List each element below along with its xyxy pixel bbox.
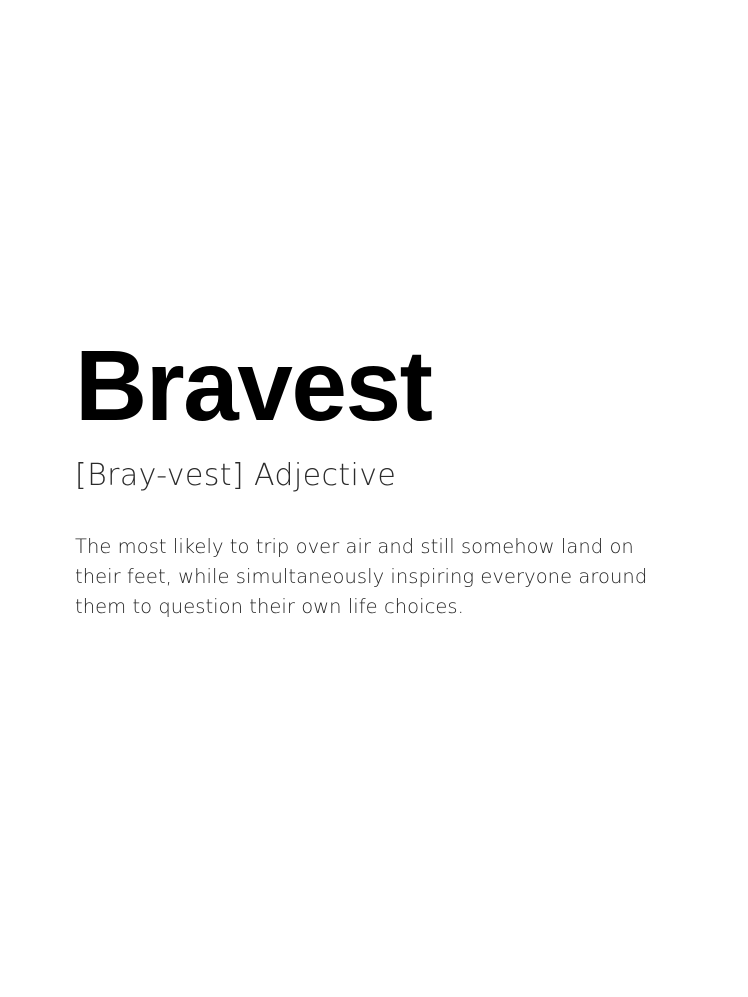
definition-poster: Bravest [Bray-vest]Adjective The most li… [0,0,748,997]
pronunciation-row: [Bray-vest]Adjective [75,436,695,494]
part-of-speech-label: Adjective [254,458,396,493]
definition-body-text: The most likely to trip over air and sti… [75,494,670,622]
definition-block: Bravest [Bray-vest]Adjective The most li… [75,336,695,622]
pronunciation-spelling: [Bray-vest] [75,458,244,493]
page-title: Bravest [75,336,695,436]
